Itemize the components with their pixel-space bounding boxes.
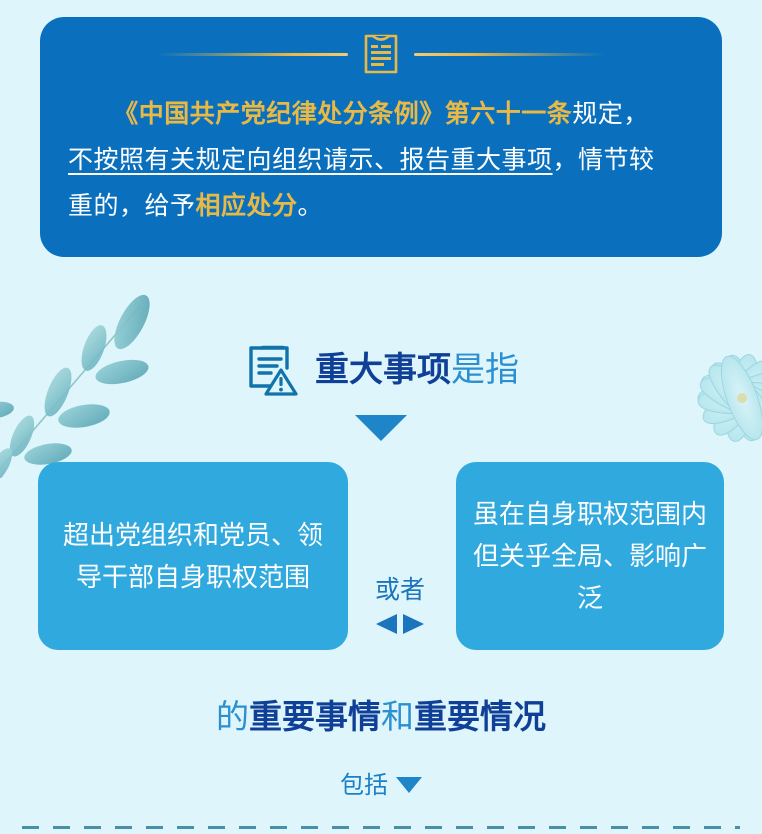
left-right-arrows-icon xyxy=(373,613,427,635)
condition-box-right-text: 虽在自身职权范围内但关乎全局、影响广泛 xyxy=(470,493,710,619)
connector-label: 或者 xyxy=(350,575,450,605)
includes-caret-wrap xyxy=(396,772,422,801)
quote-line-2: 不按照有关规定向组织请示、报告重大事项，情节较 xyxy=(68,137,694,183)
heading-caret-wrap xyxy=(0,415,762,446)
clipboard-document-icon xyxy=(362,31,400,77)
section-heading: 重大事项是指 xyxy=(0,342,762,398)
connector-group: 或者 xyxy=(350,575,450,640)
quote-line-3: 重的，给予相应处分。 xyxy=(68,183,694,229)
document-warning-icon xyxy=(243,342,299,398)
quote-card: 《中国共产党纪律处分条例》第六十一条规定， 不按照有关规定向组织请示、报告重大事… xyxy=(40,17,722,257)
gold-rule-left-icon xyxy=(158,53,348,56)
condition-box-left-text: 超出党组织和党员、领导干部自身职权范围 xyxy=(52,514,334,598)
connector-arrows-wrap xyxy=(350,613,450,640)
quote-line-2-tail: ，情节较 xyxy=(553,146,655,174)
quote-line-1-tail: 规定， xyxy=(572,100,649,128)
caret-down-icon xyxy=(355,415,407,441)
heading-emphasis: 重大事项 xyxy=(315,351,451,389)
section-heading-text: 重大事项是指 xyxy=(315,353,519,387)
quote-penalty-emphasis: 相应处分 xyxy=(196,192,298,220)
quote-line-3-head: 重的，给予 xyxy=(68,192,196,220)
conclusion-prefix: 的 xyxy=(216,698,249,735)
conclusion-emphasis-1: 重要事情 xyxy=(249,698,381,735)
heading-rest: 是指 xyxy=(451,351,519,389)
condition-box-left[interactable]: 超出党组织和党员、领导干部自身职权范围 xyxy=(38,462,348,650)
gold-rule-right-icon xyxy=(414,53,604,56)
conclusion-middle: 和 xyxy=(381,698,414,735)
conclusion-emphasis-2: 重要情况 xyxy=(414,698,546,735)
regulation-quote: 《中国共产党纪律处分条例》第六十一条规定， 不按照有关规定向组织请示、报告重大事… xyxy=(68,91,694,229)
condition-box-right[interactable]: 虽在自身职权范围内但关乎全局、影响广泛 xyxy=(456,462,724,650)
card-header-divider xyxy=(62,17,700,91)
dashed-divider xyxy=(22,826,740,829)
caret-down-icon xyxy=(396,777,422,793)
includes-label: 包括 xyxy=(340,772,388,799)
quote-underlined-clause: 不按照有关规定向组织请示、报告重大事项 xyxy=(68,146,553,174)
quote-line-1: 《中国共产党纪律处分条例》第六十一条规定， xyxy=(68,91,694,137)
conclusion-line: 的重要事情和重要情况 xyxy=(0,697,762,737)
infographic-page: 《中国共产党纪律处分条例》第六十一条规定， 不按照有关规定向组织请示、报告重大事… xyxy=(0,0,762,834)
quote-line-3-tail: 。 xyxy=(298,192,324,220)
includes-row: 包括 xyxy=(0,772,762,801)
quote-regulation-title: 《中国共产党纪律处分条例》第六十一条 xyxy=(113,100,572,128)
